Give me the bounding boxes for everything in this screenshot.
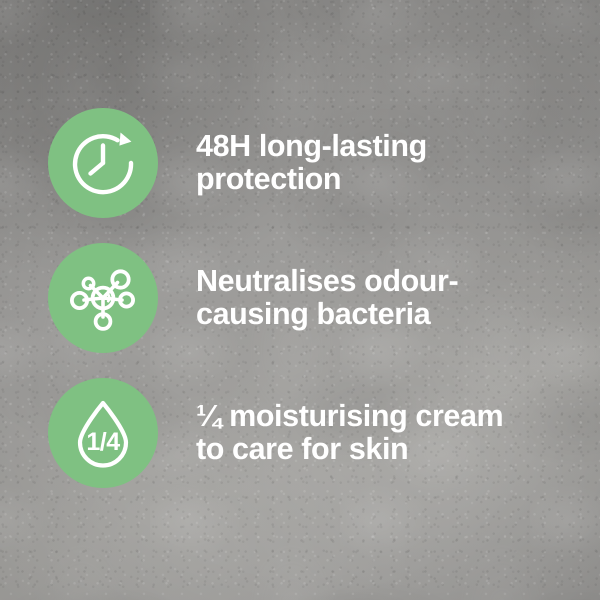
feature-label-neutralises-bacteria: Neutralises odour- causing bacteria <box>196 265 458 332</box>
feature-item-moisturising-cream: 1/4 ¼ moisturising cream to care for ski… <box>48 378 503 488</box>
feature-label-moisturising-cream: ¼ moisturising cream to care for skin <box>196 400 503 467</box>
feature-label-48h-protection: 48H long-lasting protection <box>196 130 427 197</box>
molecule-bacteria-icon <box>67 262 139 334</box>
feature-list: 48H long-lasting protection <box>0 0 600 600</box>
feature-item-48h-protection: 48H long-lasting protection <box>48 108 427 218</box>
clock-arrow-icon <box>67 127 139 199</box>
feature-item-neutralises-bacteria: Neutralises odour- causing bacteria <box>48 243 458 353</box>
product-benefits-panel: 48H long-lasting protection <box>0 0 600 600</box>
droplet-fraction-label: 1/4 <box>86 428 120 456</box>
icon-badge-droplet: 1/4 <box>48 378 158 488</box>
water-droplet-quarter-icon: 1/4 <box>67 397 139 469</box>
icon-badge-molecule <box>48 243 158 353</box>
icon-badge-clock <box>48 108 158 218</box>
